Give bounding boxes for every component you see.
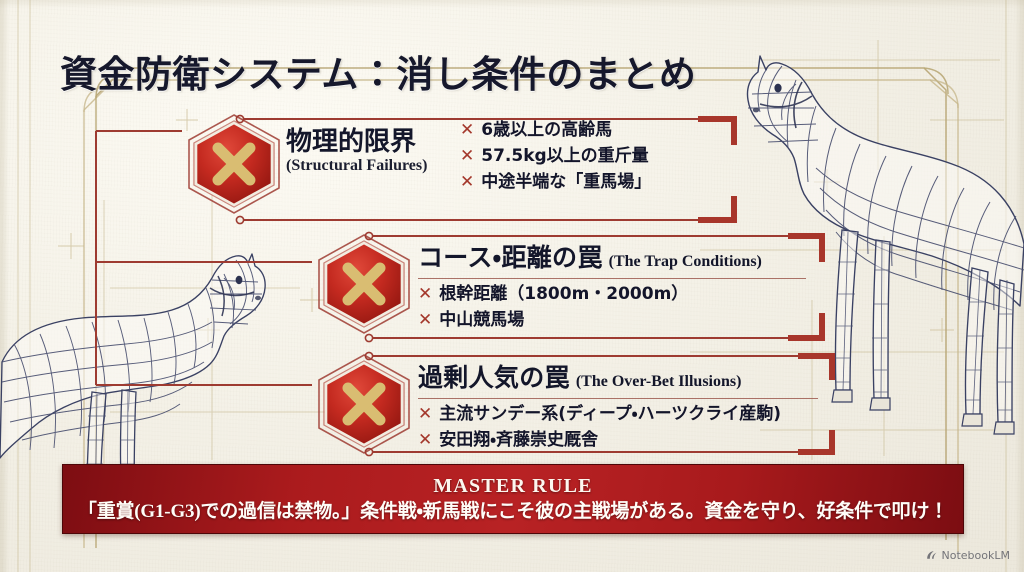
section-1-heading-en: (Structural Failures) [286,157,427,175]
master-rule-body: 「重賞(G1-G3)での過信は禁物。」条件戦・新馬戦にこそ彼の主戦場がある。資金… [78,501,948,523]
master-rule-title: MASTER RULE [433,475,592,497]
red-hex-x-badge-3 [312,352,416,456]
section-3: 過剰人気の罠 (The Over-Bet Illusions) ✕ 主流サンデー… [418,358,818,454]
section-3-divider [418,398,818,399]
section-2: コース・距離の罠 (The Trap Conditions) ✕ 根幹距離（18… [418,238,806,334]
infographic-canvas: 資金防衛システム：消し条件のまとめ [0,0,1024,572]
section-1-heading-jp: 物理的限界 [286,128,427,156]
section-2-heading-en: (The Trap Conditions) [609,253,762,271]
page-title: 資金防衛システム：消し条件のまとめ [60,44,696,98]
section-3-heading: 過剰人気の罠 (The Over-Bet Illusions) [418,358,818,394]
section-1-bullet-list: ✕ 6歳以上の高齢馬 ✕ 57.5kg以上の重斤量 ✕ 中途半端な「重馬場」 [460,118,651,195]
list-item-label: 中途半端な「重馬場」 [481,170,651,196]
list-item-label: 6歳以上の高齢馬 [481,118,612,144]
list-item: ✕ 57.5kg以上の重斤量 [460,144,651,170]
x-mark-icon: ✕ [460,170,474,196]
x-mark-icon: ✕ [418,308,432,334]
section-3-heading-en: (The Over-Bet Illusions) [576,373,742,391]
list-item: ✕ 安田翔・斉藤崇史厩舎 [418,428,818,454]
section-3-bullet-list: ✕ 主流サンデー系(ディープ・ハーツクライ産駒) ✕ 安田翔・斉藤崇史厩舎 [418,402,818,454]
notebooklm-logo-icon [925,549,938,562]
list-item-label: 主流サンデー系(ディープ・ハーツクライ産駒) [439,402,781,428]
section-1-label: 物理的限界 (Structural Failures) [286,128,427,175]
list-item-label: 安田翔・斉藤崇史厩舎 [439,428,598,454]
section-2-heading: コース・距離の罠 (The Trap Conditions) [418,238,806,274]
notebooklm-watermark-label: NotebookLM [942,549,1010,562]
red-hex-x-badge-1 [182,112,286,216]
section-2-heading-jp: コース・距離の罠 [418,238,603,274]
list-item-label: 中山競馬場 [439,308,524,334]
list-item-label: 57.5kg以上の重斤量 [481,144,648,170]
list-item: ✕ 根幹距離（1800m・2000m） [418,282,806,308]
list-item: ✕ 中途半端な「重馬場」 [460,170,651,196]
list-item: ✕ 中山競馬場 [418,308,806,334]
x-mark-icon: ✕ [418,428,432,454]
list-item: ✕ 主流サンデー系(ディープ・ハーツクライ産駒) [418,402,818,428]
x-mark-icon: ✕ [460,118,474,144]
x-mark-icon: ✕ [418,282,432,308]
master-rule-banner: MASTER RULE 「重賞(G1-G3)での過信は禁物。」条件戦・新馬戦にこ… [62,464,964,534]
list-item: ✕ 6歳以上の高齢馬 [460,118,651,144]
section-2-divider [418,278,806,279]
notebooklm-watermark: NotebookLM [925,549,1010,562]
section-2-bullet-list: ✕ 根幹距離（1800m・2000m） ✕ 中山競馬場 [418,282,806,334]
list-item-label: 根幹距離（1800m・2000m） [439,282,688,308]
x-mark-icon: ✕ [418,402,432,428]
red-hex-x-badge-2 [312,232,416,336]
section-3-heading-jp: 過剰人気の罠 [418,358,570,394]
x-mark-icon: ✕ [460,144,474,170]
